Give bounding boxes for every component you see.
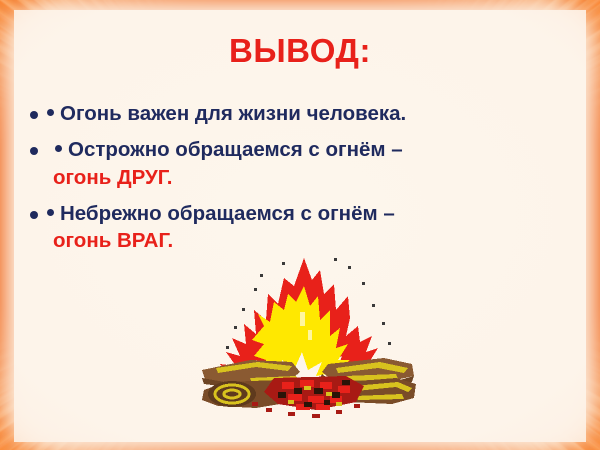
slide-content: ВЫВОД: Огонь важен для жизни человека. О…: [0, 0, 600, 450]
list-item: Острожно обращаемся с огнём – огонь ДРУГ…: [30, 136, 560, 191]
presentation-slide: ВЫВОД: Огонь важен для жизни человека. О…: [0, 0, 600, 450]
list-item-line-1: Острожно обращаемся с огнём –: [68, 138, 403, 161]
list-item-text: Небрежно обращаемся с огнём – огонь ВРАГ…: [47, 200, 395, 255]
bullet-dot-icon: [30, 147, 38, 155]
list-item-line-2: огонь ВРАГ.: [53, 227, 395, 254]
list-item-line-1: Небрежно обращаемся с огнём –: [60, 202, 395, 225]
list-item: Огонь важен для жизни человека.: [30, 100, 560, 127]
inline-bullet-dot-icon: [47, 109, 54, 116]
campfire-illustration: [196, 252, 418, 428]
list-item-line-2: огонь ДРУГ.: [53, 164, 403, 191]
list-item-line-1: Огонь важен для жизни человека.: [60, 102, 406, 125]
list-item-text: Огонь важен для жизни человека.: [47, 100, 406, 127]
inline-bullet-dot-icon: [55, 145, 62, 152]
inline-bullet-dot-icon: [47, 209, 54, 216]
list-item: Небрежно обращаемся с огнём – огонь ВРАГ…: [30, 200, 560, 255]
list-item-text: Острожно обращаемся с огнём – огонь ДРУГ…: [47, 136, 403, 191]
conclusion-bullet-list: Огонь важен для жизни человека. Острожно…: [30, 100, 560, 263]
page-title: ВЫВОД:: [0, 32, 600, 70]
bullet-dot-icon: [30, 111, 38, 119]
bullet-dot-icon: [30, 211, 38, 219]
coal-bed: [264, 376, 364, 410]
